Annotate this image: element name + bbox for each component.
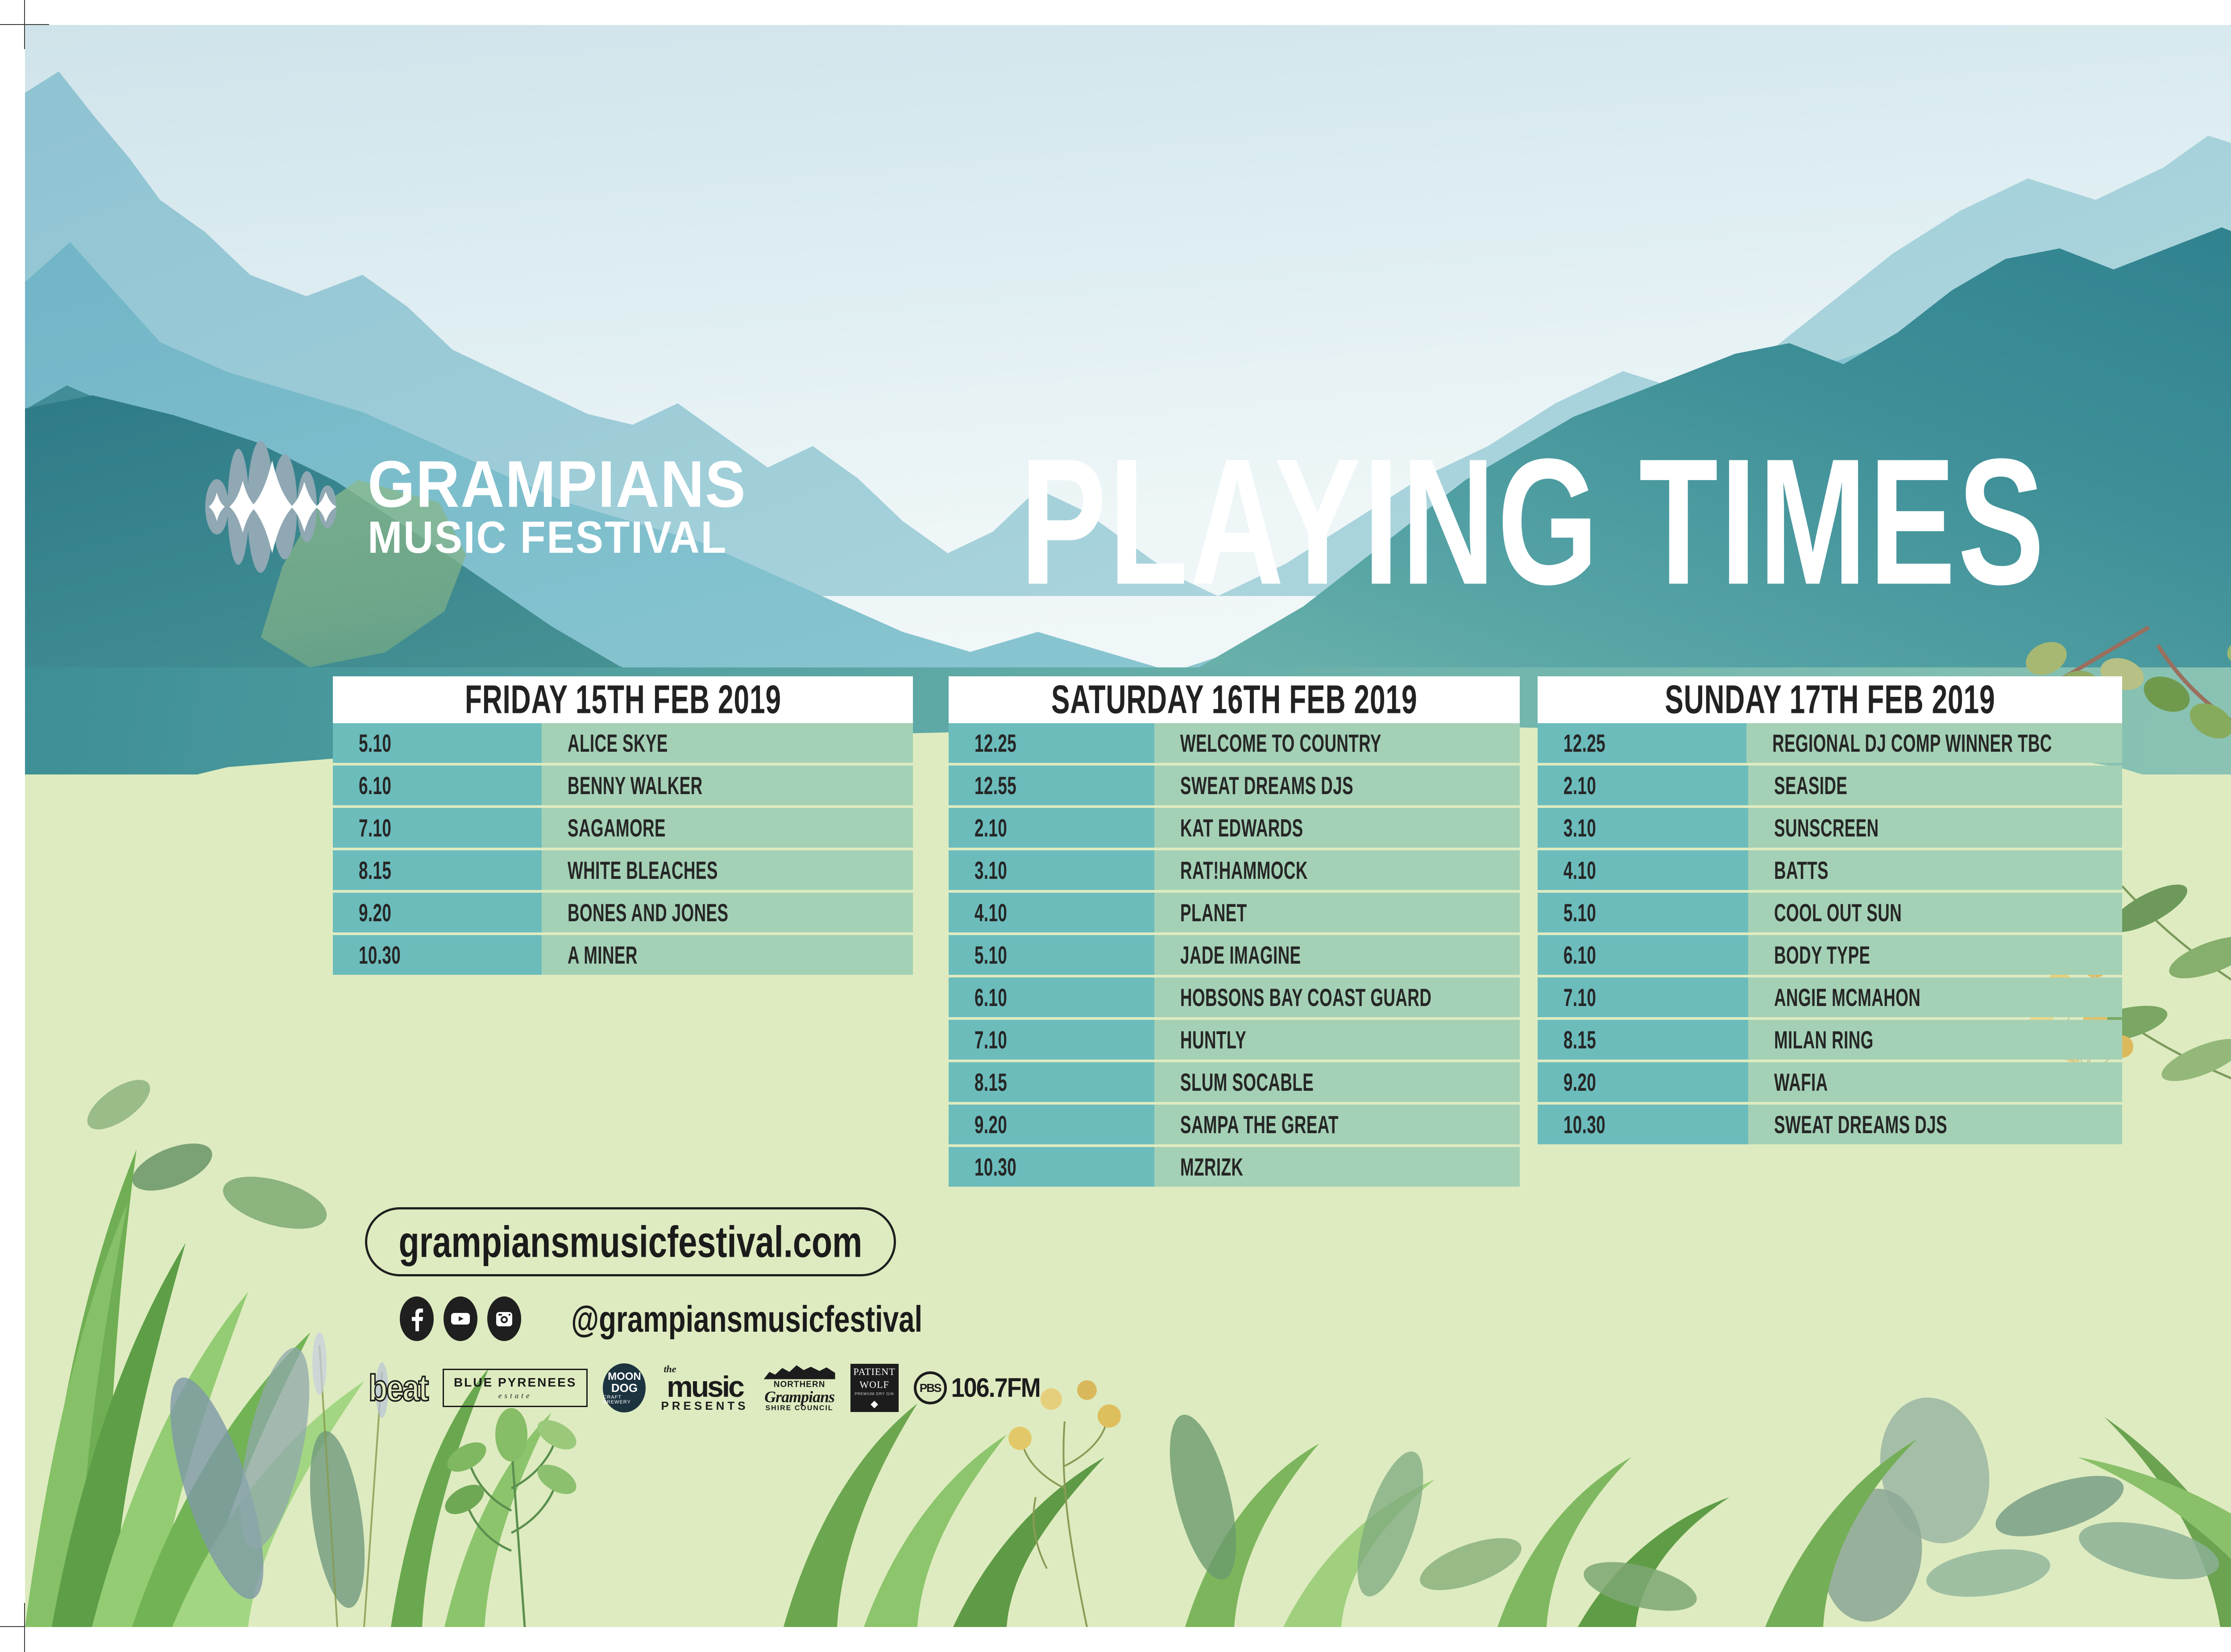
instagram-icon[interactable] [487, 1296, 521, 1341]
artist-text: BODY TYPE [1774, 940, 1870, 969]
cell-time: 10.30 [333, 935, 542, 975]
artist-text: HUNTLY [1180, 1025, 1246, 1054]
day-column-sunday: SUNDAY 17TH FEB 2019 12.25 REGIONAL DJ C… [1538, 676, 2122, 1144]
cell-artist: KAT EDWARDS [1154, 808, 1520, 848]
cell-artist: PLANET [1154, 893, 1520, 932]
sponsor-northern-grampians-shire-council: NORTHERN Grampians SHIRE COUNCIL [764, 1364, 835, 1412]
time-text: 2.10 [1563, 771, 1596, 800]
cell-time: 12.25 [949, 723, 1154, 763]
sponsor-ngsc-line1: NORTHERN [774, 1380, 825, 1389]
sponsor-beat: beat [369, 1367, 427, 1409]
artist-text: BATTS [1774, 856, 1829, 885]
time-text: 4.10 [975, 898, 1007, 927]
festival-logo: GRAMPIANS MUSIC FESTIVAL [203, 440, 779, 574]
cell-time: 12.25 [1538, 723, 1746, 763]
time-text: 10.30 [359, 940, 401, 969]
cell-artist: WELCOME TO COUNTRY [1154, 723, 1520, 763]
cell-artist: BONES AND JONES [542, 893, 913, 932]
cell-artist: SAMPA THE GREAT [1154, 1105, 1520, 1144]
time-text: 7.10 [975, 1025, 1007, 1054]
cell-artist: SEASIDE [1748, 766, 2122, 805]
cell-time: 12.55 [949, 766, 1154, 805]
table-row[interactable]: 12.25 REGIONAL DJ COMP WINNER TBC [1538, 723, 2122, 763]
cell-artist: SAGAMORE [542, 808, 913, 848]
cell-time: 3.10 [1538, 808, 1748, 848]
mountain-range-icon [764, 1364, 835, 1379]
artist-text: SLUM SOCABLE [1180, 1068, 1314, 1097]
artist-text: SUNSCREEN [1774, 813, 1879, 842]
pbs-mark-icon: PBS [914, 1371, 947, 1404]
artist-text: ALICE SKYE [568, 729, 668, 758]
table-row[interactable]: 2.10 SEASIDE [1538, 766, 2122, 805]
cell-artist: REGIONAL DJ COMP WINNER TBC [1746, 723, 2122, 763]
facebook-icon[interactable] [400, 1296, 434, 1341]
artist-text: A MINER [568, 940, 638, 969]
time-text: 3.10 [1563, 813, 1596, 842]
logo-line-music-festival: MUSIC FESTIVAL [368, 519, 746, 557]
time-text: 12.25 [975, 729, 1016, 758]
cell-time: 3.10 [949, 850, 1154, 890]
cell-time: 8.15 [333, 850, 542, 890]
cell-artist: BENNY WALKER [542, 766, 913, 805]
table-row[interactable]: 6.10 BENNY WALKER [333, 766, 913, 805]
cell-time: 10.30 [949, 1147, 1154, 1187]
time-text: 2.10 [975, 813, 1007, 842]
table-row[interactable]: 5.10 ALICE SKYE [333, 723, 913, 763]
sponsor-moon-dog-line3: CRAFT BREWERY [603, 1395, 646, 1405]
cell-time: 5.10 [1538, 893, 1748, 932]
wolf-mark-icon: ◆ [871, 1399, 878, 1409]
table-row[interactable]: 7.10 HUNTLY [949, 1020, 1520, 1060]
time-text: 5.10 [975, 940, 1007, 969]
cell-artist: SLUM SOCABLE [1154, 1062, 1520, 1102]
table-row[interactable]: 10.30 A MINER [333, 935, 913, 975]
artist-text: ANGIE MCMAHON [1774, 983, 1920, 1012]
artist-text: BENNY WALKER [568, 771, 703, 800]
sponsor-moon-dog-line1: MOON [608, 1371, 641, 1382]
sponsor-blue-pyrenees-line1: BLUE PYRENEES [454, 1375, 577, 1390]
time-text: 4.10 [1563, 856, 1596, 885]
cell-time: 8.15 [1538, 1020, 1748, 1060]
sponsor-patient-wolf: PATIENT WOLF PREMIUM DRY GIN ◆ [850, 1364, 899, 1412]
table-row[interactable]: 2.10 KAT EDWARDS [949, 808, 1520, 848]
cell-artist: COOL OUT SUN [1748, 893, 2122, 932]
time-text: 6.10 [1563, 940, 1596, 969]
artist-text: REGIONAL DJ COMP WINNER TBC [1772, 729, 2052, 758]
artist-text: SWEAT DREAMS DJS [1774, 1110, 1947, 1139]
cell-time: 5.10 [333, 723, 542, 763]
table-row[interactable]: 6.10 BODY TYPE [1538, 935, 2122, 975]
cell-time: 6.10 [949, 977, 1154, 1017]
cell-artist: MILAN RING [1748, 1020, 2122, 1060]
sponsor-ngsc-line3: SHIRE COUNCIL [765, 1405, 833, 1412]
table-row[interactable]: 10.30 SWEAT DREAMS DJS [1538, 1105, 2122, 1144]
sponsor-pbs-fm: PBS 106.7FM [914, 1371, 1040, 1404]
cell-time: 2.10 [949, 808, 1154, 848]
cell-artist: WHITE BLEACHES [542, 850, 913, 890]
schedule-grid: FRIDAY 15TH FEB 2019 5.10 ALICE SKYE 6.1… [25, 676, 2231, 1613]
time-text: 8.15 [975, 1068, 1007, 1097]
day-header-label: FRIDAY 15TH FEB 2019 [464, 677, 781, 723]
table-row[interactable]: 9.20 WAFIA [1538, 1062, 2122, 1102]
schedule-rows-friday: 5.10 ALICE SKYE 6.10 BENNY WALKER 7.10 S… [333, 723, 913, 975]
artist-text: SEASIDE [1774, 771, 1847, 800]
cell-artist: JADE IMAGINE [1154, 935, 1520, 975]
cell-time: 9.20 [949, 1105, 1154, 1144]
time-text: 9.20 [975, 1110, 1007, 1139]
day-header-label: SATURDAY 16TH FEB 2019 [1051, 677, 1417, 723]
table-row[interactable]: 9.20 SAMPA THE GREAT [949, 1105, 1520, 1144]
sponsor-patient-wolf-line1: PATIENT [853, 1366, 895, 1377]
cell-time: 7.10 [333, 808, 542, 848]
time-text: 8.15 [359, 856, 391, 885]
website-url: grampiansmusicfestival.com [399, 1216, 863, 1267]
sponsor-the-music-line2: music [667, 1374, 743, 1400]
table-row[interactable]: 3.10 SUNSCREEN [1538, 808, 2122, 848]
artist-text: HOBSONS BAY COAST GUARD [1180, 983, 1431, 1012]
time-text: 12.55 [975, 771, 1016, 800]
soundwave-icon [203, 440, 346, 574]
cell-time: 8.15 [949, 1062, 1154, 1102]
sponsor-moon-dog-line2: DOG [611, 1382, 638, 1394]
time-text: 7.10 [359, 813, 391, 842]
artist-text: PLANET [1180, 898, 1247, 927]
table-row[interactable]: 9.20 BONES AND JONES [333, 893, 913, 932]
cell-time: 9.20 [333, 893, 542, 932]
artist-text: COOL OUT SUN [1774, 898, 1902, 927]
day-header-saturday: SATURDAY 16TH FEB 2019 [949, 676, 1520, 723]
time-text: 12.25 [1563, 729, 1605, 758]
table-row[interactable]: 7.10 SAGAMORE [333, 808, 913, 848]
sponsor-patient-wolf-line2: WOLF [859, 1379, 889, 1390]
sponsor-blue-pyrenees-line2: estate [498, 1391, 532, 1400]
table-row[interactable]: 12.25 WELCOME TO COUNTRY [949, 723, 1520, 763]
artist-text: SAGAMORE [568, 813, 666, 842]
cell-time: 2.10 [1538, 766, 1748, 805]
table-row[interactable]: 5.10 COOL OUT SUN [1538, 893, 2122, 932]
festival-playing-times-poster: GRAMPIANS MUSIC FESTIVAL PLAYING TIMES F… [0, 0, 2231, 1652]
cell-artist: RAT!HAMMOCK [1154, 850, 1520, 890]
cell-time: 4.10 [949, 893, 1154, 932]
cell-time: 7.10 [949, 1020, 1154, 1060]
time-text: 10.30 [1563, 1110, 1605, 1139]
sponsor-blue-pyrenees: BLUE PYRENEES estate [443, 1369, 588, 1407]
time-text: 5.10 [359, 729, 391, 758]
table-row[interactable]: 3.10 RAT!HAMMOCK [949, 850, 1520, 890]
cell-artist: SWEAT DREAMS DJS [1748, 1105, 2122, 1144]
time-text: 8.15 [1563, 1025, 1596, 1054]
artist-text: KAT EDWARDS [1180, 813, 1303, 842]
time-text: 6.10 [975, 983, 1007, 1012]
table-row[interactable]: 10.30 MZRIZK [949, 1147, 1520, 1187]
day-column-friday: FRIDAY 15TH FEB 2019 5.10 ALICE SKYE 6.1… [333, 676, 913, 975]
artist-text: MZRIZK [1180, 1152, 1243, 1181]
cell-time: 7.10 [1538, 977, 1748, 1017]
cell-artist: A MINER [542, 935, 913, 975]
cell-artist: HOBSONS BAY COAST GUARD [1154, 977, 1520, 1017]
cell-artist: BODY TYPE [1748, 935, 2122, 975]
schedule-rows-sunday: 12.25 REGIONAL DJ COMP WINNER TBC 2.10 S… [1538, 723, 2122, 1144]
logo-line-grampians: GRAMPIANS [368, 457, 746, 512]
cell-time: 9.20 [1538, 1062, 1748, 1102]
sponsor-pbs-frequency: 106.7FM [951, 1372, 1040, 1403]
website-button[interactable]: grampiansmusicfestival.com [365, 1207, 896, 1276]
time-text: 9.20 [359, 898, 391, 927]
artist-text: BONES AND JONES [568, 898, 728, 927]
cell-time: 4.10 [1538, 850, 1748, 890]
cell-artist: WAFIA [1748, 1062, 2122, 1102]
cell-artist: ANGIE MCMAHON [1748, 977, 2122, 1017]
artist-text: SAMPA THE GREAT [1180, 1110, 1339, 1139]
time-text: 5.10 [1563, 898, 1596, 927]
page-title: PLAYING TIMES [1020, 444, 2047, 599]
time-text: 6.10 [359, 771, 391, 800]
artist-text: RAT!HAMMOCK [1180, 856, 1308, 885]
day-header-sunday: SUNDAY 17TH FEB 2019 [1538, 676, 2122, 723]
cell-time: 6.10 [1538, 935, 1748, 975]
table-row[interactable]: 5.10 JADE IMAGINE [949, 935, 1520, 975]
day-column-saturday: SATURDAY 16TH FEB 2019 12.25 WELCOME TO … [949, 676, 1520, 1187]
sponsor-the-music-presents: the music PRESENTS [661, 1365, 748, 1412]
social-handle: @grampiansmusicfestival [571, 1297, 922, 1340]
table-row[interactable]: 8.15 MILAN RING [1538, 1020, 2122, 1060]
time-text: 7.10 [1563, 983, 1596, 1012]
cell-time: 5.10 [949, 935, 1154, 975]
artist-text: MILAN RING [1774, 1025, 1874, 1054]
table-row[interactable]: 12.55 SWEAT DREAMS DJS [949, 766, 1520, 805]
sponsor-logos: beat BLUE PYRENEES estate MOON DOG CRAFT… [369, 1363, 1040, 1412]
artist-text: WHITE BLEACHES [568, 856, 718, 885]
time-text: 9.20 [1563, 1068, 1596, 1097]
social-links: @grampiansmusicfestival [400, 1296, 951, 1341]
artist-text: SWEAT DREAMS DJS [1180, 771, 1353, 800]
cell-artist: MZRIZK [1154, 1147, 1520, 1187]
cell-artist: SWEAT DREAMS DJS [1154, 766, 1520, 805]
table-row[interactable]: 4.10 BATTS [1538, 850, 2122, 890]
artist-text: WAFIA [1774, 1068, 1828, 1097]
table-row[interactable]: 8.15 SLUM SOCABLE [949, 1062, 1520, 1102]
cell-artist: SUNSCREEN [1748, 808, 2122, 848]
artist-text: WELCOME TO COUNTRY [1180, 729, 1381, 758]
day-header-label: SUNDAY 17TH FEB 2019 [1665, 677, 1995, 723]
table-row[interactable]: 7.10 ANGIE MCMAHON [1538, 977, 2122, 1017]
sponsor-patient-wolf-line3: PREMIUM DRY GIN [855, 1392, 894, 1396]
cell-artist: ALICE SKYE [542, 723, 913, 763]
table-row[interactable]: 4.10 PLANET [949, 893, 1520, 932]
cell-time: 6.10 [333, 766, 542, 805]
sponsor-ngsc-line2: Grampians [764, 1389, 834, 1405]
day-header-friday: FRIDAY 15TH FEB 2019 [333, 676, 913, 723]
time-text: 3.10 [975, 856, 1007, 885]
cell-time: 10.30 [1538, 1105, 1748, 1144]
cell-artist: BATTS [1748, 850, 2122, 890]
youtube-icon[interactable] [444, 1296, 477, 1341]
schedule-rows-saturday: 12.25 WELCOME TO COUNTRY 12.55 SWEAT DRE… [949, 723, 1520, 1187]
artist-text: JADE IMAGINE [1180, 940, 1301, 969]
table-row[interactable]: 6.10 HOBSONS BAY COAST GUARD [949, 977, 1520, 1017]
table-row[interactable]: 8.15 WHITE BLEACHES [333, 850, 913, 890]
sponsor-the-music-line3: PRESENTS [661, 1401, 748, 1411]
cell-artist: HUNTLY [1154, 1020, 1520, 1060]
sponsor-moon-dog: MOON DOG CRAFT BREWERY [603, 1363, 646, 1412]
poster-artboard: GRAMPIANS MUSIC FESTIVAL PLAYING TIMES F… [25, 25, 2231, 1627]
time-text: 10.30 [975, 1152, 1016, 1181]
